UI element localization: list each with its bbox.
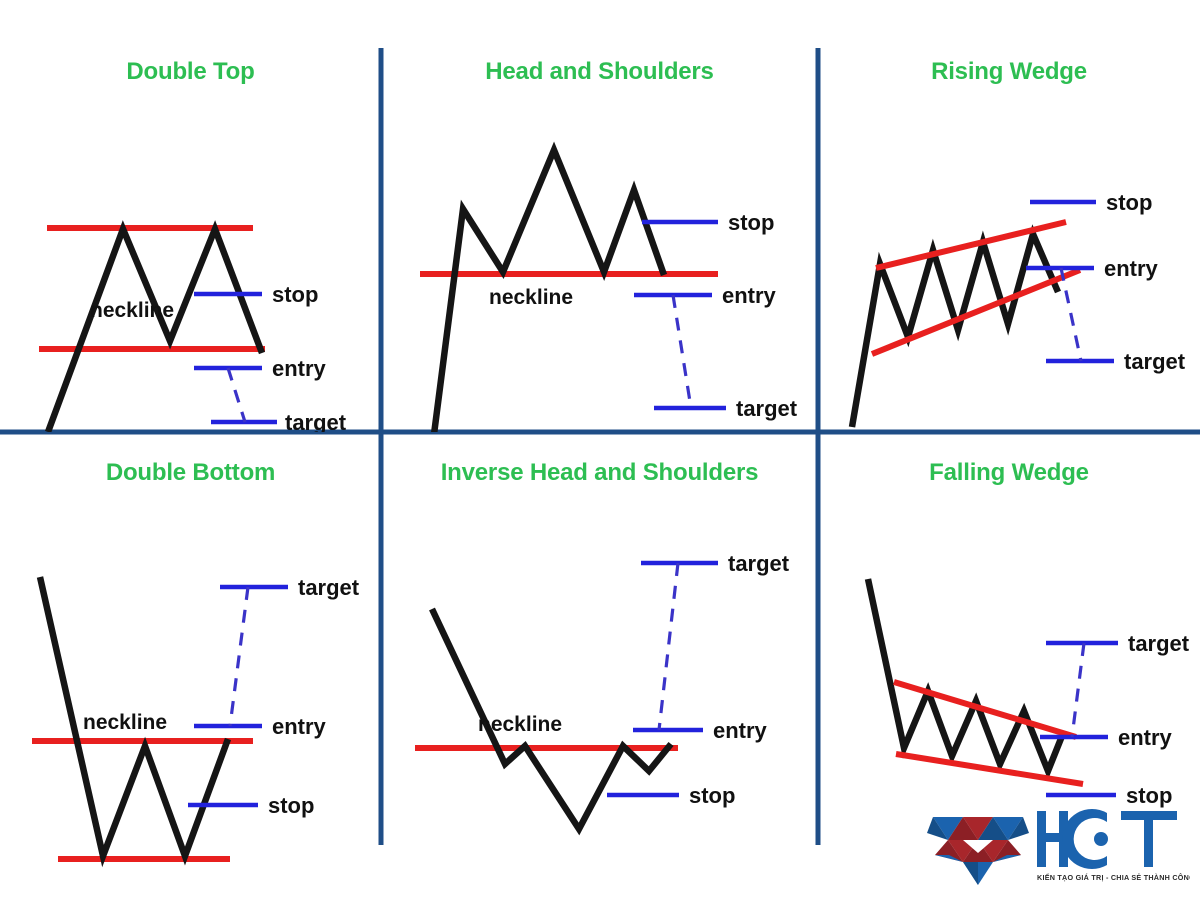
- measured-move-dashed: [1061, 268, 1081, 361]
- label-stop: stop: [689, 783, 735, 808]
- logo-tagline: KIẾN TẠO GIÁ TRỊ - CHIA SẺ THÀNH CÔNG: [1037, 872, 1190, 882]
- label-stop: stop: [1106, 190, 1152, 215]
- panel-rising-wedge: Rising Wedge stop entry target: [818, 40, 1200, 432]
- hct-logo: KIẾN TẠO GIÁ TRỊ - CHIA SẺ THÀNH CÔNG: [925, 795, 1190, 887]
- label-neckline: neckline: [90, 299, 174, 322]
- chart-rising-wedge: stop entry target: [818, 102, 1200, 432]
- chart-head-and-shoulders: neckline stop entry target: [381, 102, 818, 432]
- lower-trendline: [872, 270, 1080, 354]
- label-target: target: [736, 396, 798, 421]
- label-target: target: [1128, 631, 1190, 656]
- label-entry: entry: [1104, 256, 1159, 281]
- price-path: [868, 579, 1064, 771]
- price-path: [48, 229, 262, 432]
- chart-inverse-head-and-shoulders: neckline target entry stop: [381, 499, 818, 899]
- measured-move-dashed: [228, 368, 245, 422]
- label-target: target: [285, 410, 347, 432]
- panel-double-bottom: Double Bottom neckline target entry stop: [0, 437, 381, 900]
- panel-title-falling-wedge: Falling Wedge: [818, 459, 1200, 487]
- label-stop: stop: [728, 210, 774, 235]
- panel-title-rising-wedge: Rising Wedge: [818, 58, 1200, 86]
- label-target: target: [1124, 349, 1186, 374]
- label-stop: stop: [272, 282, 318, 307]
- label-neckline: neckline: [83, 711, 167, 734]
- panel-double-top: Double Top neckline stop entry target: [0, 40, 381, 432]
- label-target: target: [298, 575, 360, 600]
- measured-move-dashed: [230, 587, 248, 726]
- panel-inverse-head-and-shoulders: Inverse Head and Shoulders neckline targ…: [381, 437, 818, 900]
- cheat-sheet-page: Double Top neckline stop entry target He…: [0, 0, 1200, 900]
- label-stop: stop: [268, 793, 314, 818]
- label-entry: entry: [1118, 725, 1173, 750]
- label-neckline: neckline: [478, 713, 562, 736]
- panel-title-double-bottom: Double Bottom: [0, 459, 381, 487]
- panel-title-double-top: Double Top: [0, 58, 381, 86]
- measured-move-dashed: [659, 563, 678, 730]
- logo-wordmark: [1037, 809, 1177, 869]
- label-entry: entry: [272, 714, 327, 739]
- measured-move-dashed: [1072, 643, 1084, 737]
- label-entry: entry: [713, 718, 768, 743]
- panel-title-head-and-shoulders: Head and Shoulders: [381, 58, 818, 86]
- chart-double-bottom: neckline target entry stop: [0, 499, 381, 899]
- measured-move-dashed: [673, 295, 691, 408]
- label-entry: entry: [272, 356, 327, 381]
- label-entry: entry: [722, 283, 777, 308]
- panel-title-inverse-head-and-shoulders: Inverse Head and Shoulders: [381, 459, 818, 487]
- price-path: [852, 234, 1058, 427]
- panel-head-and-shoulders: Head and Shoulders neckline stop entry t…: [381, 40, 818, 432]
- label-neckline: neckline: [489, 286, 573, 309]
- label-target: target: [728, 551, 790, 576]
- logo-diamond-mark: [927, 817, 1029, 885]
- chart-double-top: neckline stop entry target: [0, 102, 381, 432]
